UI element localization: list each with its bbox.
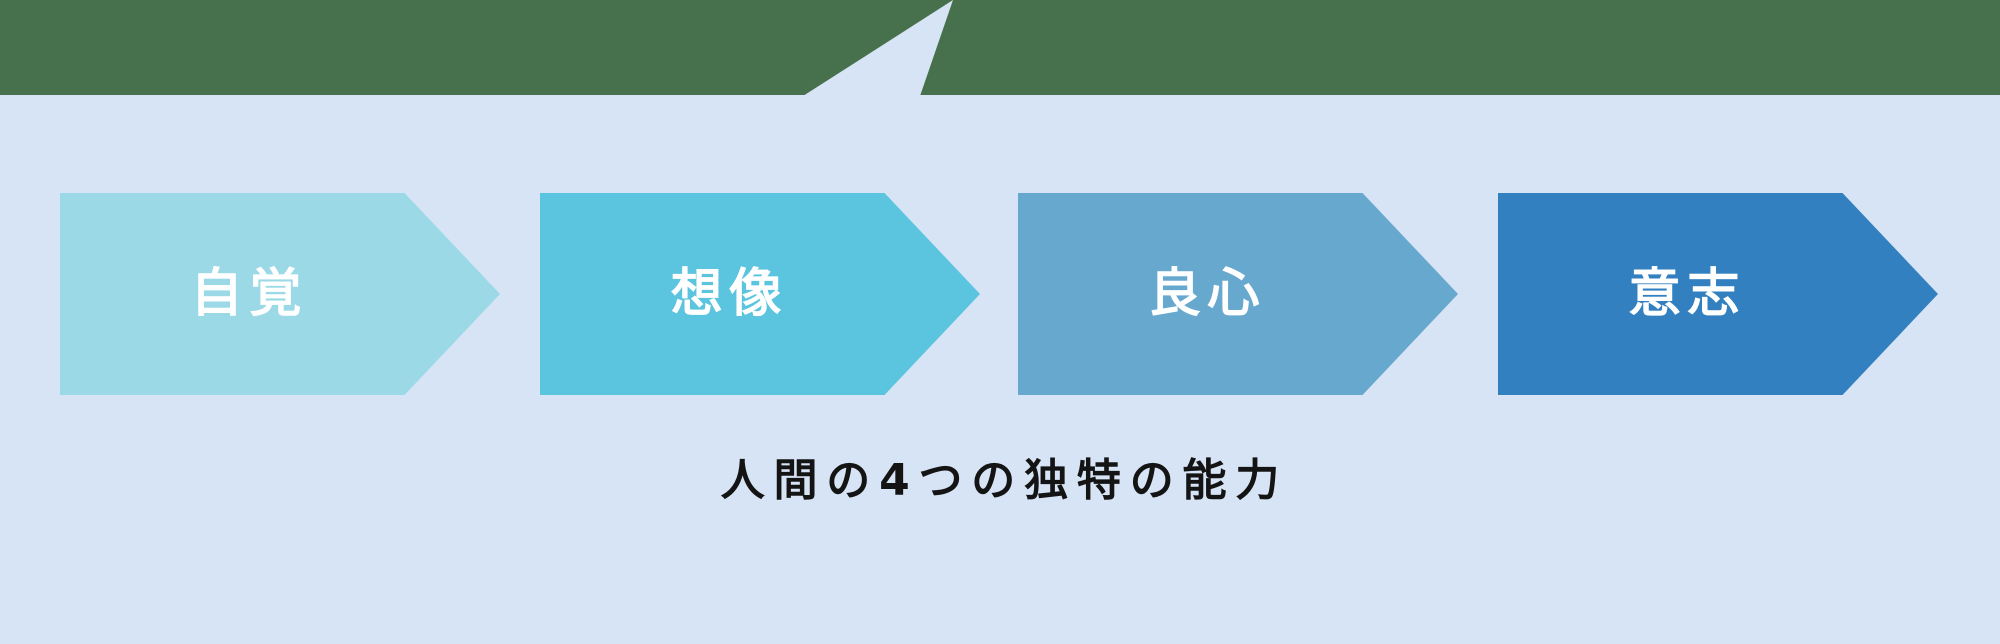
- chevron-step-4-label: 意志: [1622, 268, 1746, 320]
- chevron-step-1[interactable]: 自覚: [60, 193, 500, 395]
- chevron-step-4[interactable]: 意志: [1498, 193, 1938, 395]
- chevron-step-2-label: 想像: [664, 268, 788, 320]
- green-header-band: [0, 0, 2000, 95]
- chevron-step-2[interactable]: 想像: [540, 193, 980, 395]
- chevron-step-3[interactable]: 良心: [1018, 193, 1458, 395]
- chevron-flow-row: 自覚 想像 良心 意志: [0, 193, 2000, 395]
- speech-bubble-pointer-shape: [803, 0, 953, 96]
- speech-bubble-pointer-icon: [780, 0, 980, 96]
- diagram-caption: 人間の4つの独特の能力: [0, 455, 2000, 508]
- chevron-step-1-label: 自覚: [184, 268, 308, 320]
- chevron-step-3-label: 良心: [1142, 268, 1266, 320]
- diagram-canvas: 自覚 想像 良心 意志 人間の4つの独特の能力: [0, 0, 2000, 644]
